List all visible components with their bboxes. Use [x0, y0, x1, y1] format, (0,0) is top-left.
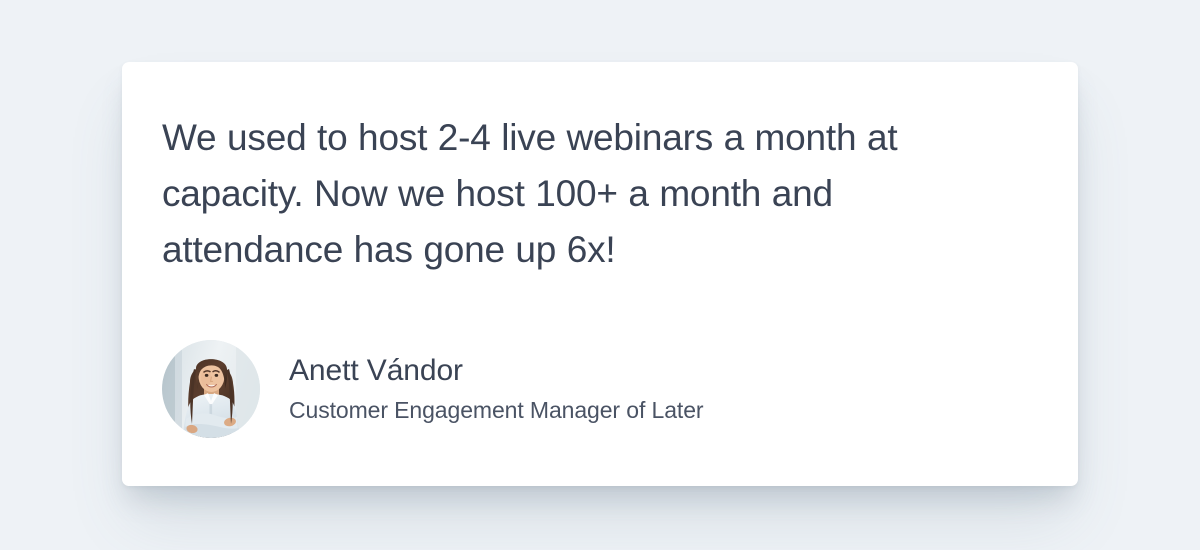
- person-name: Anett Vándor: [289, 352, 703, 390]
- testimonial-quote: We used to host 2-4 live webinars a mont…: [162, 110, 974, 278]
- avatar-photo-icon: [162, 340, 260, 438]
- page-background: We used to host 2-4 live webinars a mont…: [0, 0, 1200, 550]
- avatar: [162, 340, 260, 438]
- testimonial-attribution: Anett Vándor Customer Engagement Manager…: [162, 340, 1018, 438]
- attribution-text: Anett Vándor Customer Engagement Manager…: [289, 352, 703, 426]
- person-title: Customer Engagement Manager of Later: [289, 394, 703, 426]
- testimonial-card: We used to host 2-4 live webinars a mont…: [122, 62, 1078, 486]
